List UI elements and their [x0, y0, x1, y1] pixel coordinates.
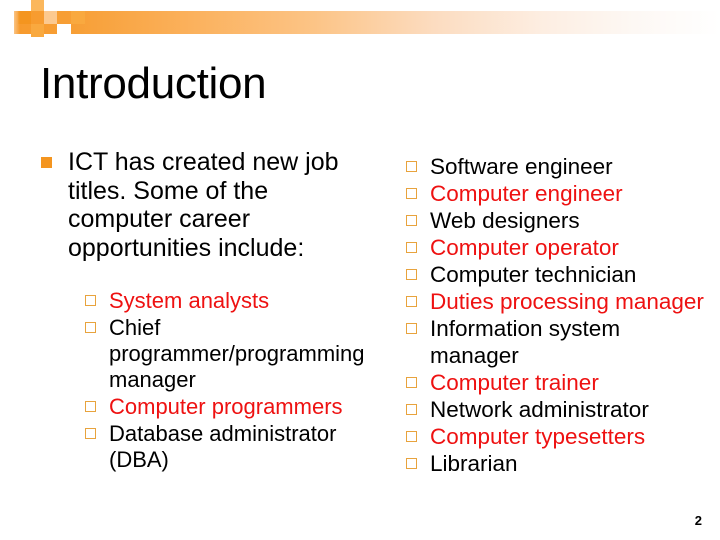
list-item-label: Duties processing manager	[430, 289, 704, 314]
list-item: Computer trainer	[405, 370, 715, 397]
list-item: System analysts	[84, 288, 368, 314]
list-item-label: Computer typesetters	[430, 424, 645, 449]
hollow-square-bullet-icon	[406, 377, 417, 388]
hollow-square-bullet-icon	[406, 431, 417, 442]
list-item-label: Computer engineer	[430, 181, 623, 206]
square-bullet-icon	[41, 157, 52, 168]
list-item-label: Computer operator	[430, 235, 619, 260]
right-sub-list: Software engineer Computer engineer Web …	[405, 154, 715, 477]
deco-left-fade	[0, 0, 20, 45]
hollow-square-bullet-icon	[85, 401, 96, 412]
hollow-square-bullet-icon	[406, 404, 417, 415]
hollow-square-bullet-icon	[406, 188, 417, 199]
list-item-label: Computer technician	[430, 262, 636, 287]
left-column: ICT has created new job titles. Some of …	[38, 148, 368, 474]
lead-bullet-text: ICT has created new job titles. Some of …	[68, 148, 339, 262]
list-item: Computer engineer	[405, 181, 715, 208]
list-item: Network administrator	[405, 397, 715, 424]
deco-square-notch	[71, 11, 85, 24]
hollow-square-bullet-icon	[406, 269, 417, 280]
list-item: Computer programmers	[84, 394, 368, 420]
list-item: Database administrator (DBA)	[84, 421, 368, 473]
list-item: Information system manager	[405, 316, 715, 369]
hollow-square-bullet-icon	[85, 295, 96, 306]
hollow-square-bullet-icon	[406, 296, 417, 307]
list-item-label: Network administrator	[430, 397, 649, 422]
deco-square-5	[57, 0, 71, 11]
hollow-square-bullet-icon	[85, 322, 96, 333]
lead-bullet-item: ICT has created new job titles. Some of …	[38, 148, 368, 262]
list-item: Duties processing manager	[405, 289, 715, 316]
list-item: Web designers	[405, 208, 715, 235]
list-item-label: Librarian	[430, 451, 518, 476]
slide-canvas: Introduction ICT has created new job tit…	[0, 0, 720, 540]
header-gradient-band	[14, 11, 720, 34]
list-item-label: Information system manager	[430, 316, 620, 368]
list-item: Librarian	[405, 451, 715, 478]
hollow-square-bullet-icon	[85, 428, 96, 439]
hollow-square-bullet-icon	[406, 215, 417, 226]
hollow-square-bullet-icon	[406, 458, 417, 469]
list-item-label: System analysts	[109, 288, 269, 313]
deco-square-2	[31, 0, 44, 11]
list-item: Computer typesetters	[405, 424, 715, 451]
list-item-label: Software engineer	[430, 154, 613, 179]
list-item: Chief programmer/programming manager	[84, 315, 368, 393]
slide-number: 2	[695, 513, 702, 528]
list-item-label: Web designers	[430, 208, 580, 233]
list-item-label: Computer trainer	[430, 370, 599, 395]
list-item-label: Computer programmers	[109, 394, 343, 419]
list-item-label: Database administrator (DBA)	[109, 421, 336, 472]
hollow-square-bullet-icon	[406, 323, 417, 334]
hollow-square-bullet-icon	[406, 161, 417, 172]
deco-square-6	[57, 24, 71, 37]
list-item: Computer operator	[405, 235, 715, 262]
list-item-label: Chief programmer/programming manager	[109, 315, 365, 392]
deco-square-4	[44, 11, 57, 24]
page-title: Introduction	[40, 58, 266, 110]
right-column: Software engineer Computer engineer Web …	[405, 154, 715, 478]
left-sub-list: System analysts Chief programmer/program…	[84, 288, 368, 473]
deco-square-3	[31, 24, 44, 37]
list-item: Computer technician	[405, 262, 715, 289]
list-item: Software engineer	[405, 154, 715, 181]
hollow-square-bullet-icon	[406, 242, 417, 253]
